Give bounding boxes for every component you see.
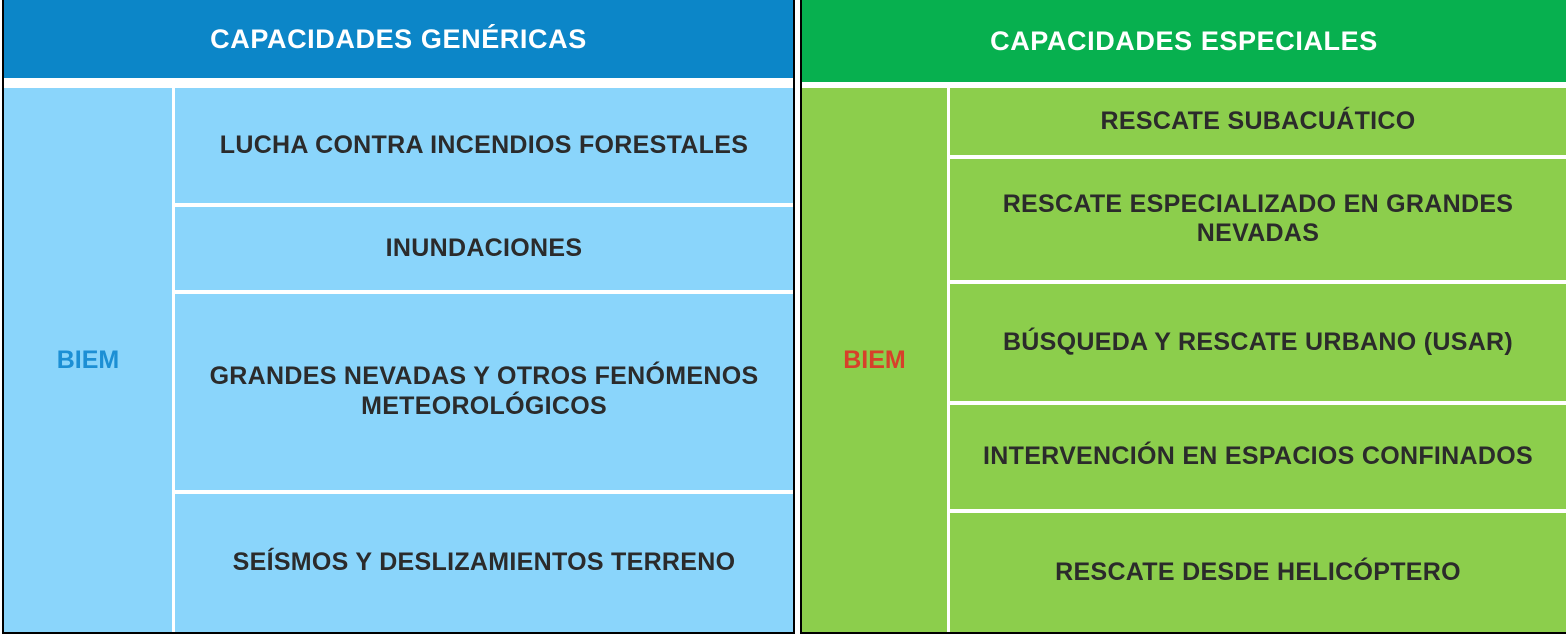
table-row: INTERVENCIÓN EN ESPACIOS CONFINADOS (950, 405, 1566, 513)
capacidades-especiales-row-list: RESCATE SUBACUÁTICO RESCATE ESPECIALIZAD… (950, 88, 1566, 632)
table-row: BÚSQUEDA Y RESCATE URBANO (USAR) (950, 284, 1566, 406)
table-row: RESCATE ESPECIALIZADO EN GRANDES NEVADAS (950, 159, 1566, 283)
table-row: INUNDACIONES (175, 207, 793, 294)
table-row: SEÍSMOS Y DESLIZAMIENTOS TERRENO (175, 494, 793, 632)
capacidades-especiales-unit-label: BIEM (802, 88, 947, 632)
table-row: LUCHA CONTRA INCENDIOS FORESTALES (175, 88, 793, 207)
capacidades-especiales-table: CAPACIDADES ESPECIALES BIEM RESCATE SUBA… (800, 0, 1566, 634)
capacidades-especiales-header: CAPACIDADES ESPECIALES (802, 0, 1566, 82)
table-row: RESCATE SUBACUÁTICO (950, 88, 1566, 159)
capacidades-genericas-body: BIEM LUCHA CONTRA INCENDIOS FORESTALES I… (4, 78, 793, 632)
capacidades-especiales-body: BIEM RESCATE SUBACUÁTICO RESCATE ESPECIA… (802, 82, 1566, 632)
table-row: RESCATE DESDE HELICÓPTERO (950, 513, 1566, 632)
capacidades-genericas-header: CAPACIDADES GENÉRICAS (4, 0, 793, 78)
capacidades-genericas-row-list: LUCHA CONTRA INCENDIOS FORESTALES INUNDA… (175, 88, 793, 632)
capabilities-tables-figure: CAPACIDADES GENÉRICAS BIEM LUCHA CONTRA … (0, 0, 1566, 634)
capacidades-genericas-unit-label: BIEM (4, 88, 172, 632)
capacidades-genericas-table: CAPACIDADES GENÉRICAS BIEM LUCHA CONTRA … (2, 0, 795, 634)
table-row: GRANDES NEVADAS Y OTROS FENÓMENOS METEOR… (175, 294, 793, 494)
